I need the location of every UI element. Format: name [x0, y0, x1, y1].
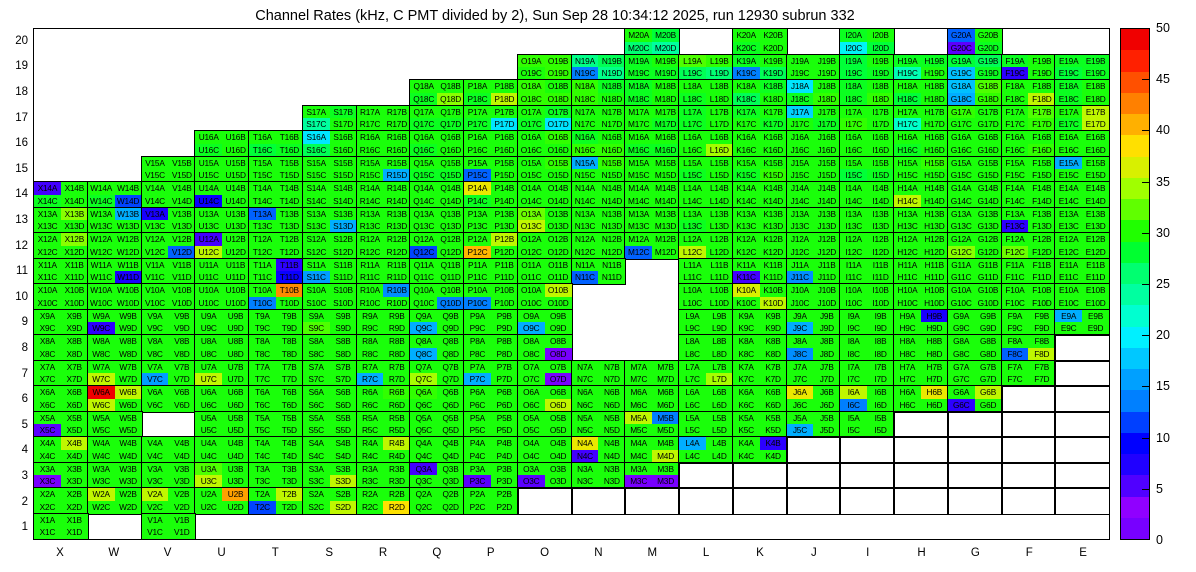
channel-Q2C: Q2C: [410, 501, 437, 514]
channel-J12A: J12A: [787, 233, 814, 246]
channel-K11C: K11C: [733, 271, 760, 284]
channel-U10C: U10C: [195, 297, 222, 310]
module-empty-I4: [840, 437, 894, 463]
channel-X4B: X4B: [61, 437, 88, 450]
channel-K19A: K19A: [733, 55, 760, 68]
colorbar-label-5: 5: [1156, 482, 1163, 496]
module-V14: V14AV14BV14CV14D: [142, 182, 196, 208]
channel-U2C: U2C: [195, 501, 222, 514]
module-T2: T2AT2BT2CT2D: [249, 488, 303, 514]
channel-F13C: F13C: [1002, 220, 1029, 233]
channel-O8B: O8B: [545, 335, 572, 348]
y-tick-12: 12: [2, 240, 28, 252]
channel-H8A: H8A: [894, 335, 921, 348]
channel-V1B: V1B: [168, 514, 195, 527]
channel-J12C: J12C: [787, 246, 814, 259]
channel-K16C: K16C: [733, 144, 760, 157]
channel-O5C: O5C: [518, 424, 545, 437]
channel-L13C: L13C: [679, 220, 706, 233]
channel-T7C: T7C: [249, 373, 276, 386]
channel-M7D: M7D: [652, 373, 679, 386]
channel-T14B: T14B: [276, 182, 303, 195]
module-N16: N16AN16BN16CN16D: [572, 131, 626, 157]
channel-O11B: O11B: [545, 259, 572, 272]
channel-W2B: W2B: [115, 488, 142, 501]
channel-P12C: P12C: [464, 246, 491, 259]
channel-T12C: T12C: [249, 246, 276, 259]
channel-U3A: U3A: [195, 463, 222, 476]
channel-O15C: O15C: [518, 169, 545, 182]
channel-G14D: G14D: [975, 195, 1002, 208]
channel-M17C: M17C: [625, 118, 652, 131]
module-Q4: Q4AQ4BQ4CQ4D: [410, 437, 464, 463]
channel-K18D: K18D: [760, 93, 787, 106]
channel-P8A: P8A: [464, 335, 491, 348]
channel-T10D: T10D: [276, 297, 303, 310]
channel-T12B: T12B: [276, 233, 303, 246]
channel-P12B: P12B: [491, 233, 518, 246]
channel-R12C: R12C: [357, 246, 384, 259]
module-I9: I9AI9BI9CI9D: [840, 310, 894, 336]
channel-W8B: W8B: [115, 335, 142, 348]
channel-L7C: L7C: [679, 373, 706, 386]
channel-V6B: V6B: [168, 386, 195, 399]
channel-F19C: F19C: [1002, 67, 1029, 80]
module-S10: S10AS10BS10CS10D: [303, 284, 357, 310]
channel-J14B: J14B: [813, 182, 840, 195]
colorbar-tick-20: [1142, 335, 1150, 336]
channel-O11D: O11D: [545, 271, 572, 284]
channel-N5D: N5D: [598, 424, 625, 437]
channel-O13C: O13C: [518, 220, 545, 233]
channel-E12A: E12A: [1055, 233, 1082, 246]
channel-J9A: J9A: [787, 310, 814, 323]
module-R12: R12AR12BR12CR12D: [357, 233, 411, 259]
module-E15: E15AE15BE15CE15D: [1055, 157, 1109, 183]
channel-T13D: T13D: [276, 220, 303, 233]
channel-L10C: L10C: [679, 297, 706, 310]
channel-U12D: U12D: [222, 246, 249, 259]
channel-Q6B: Q6B: [437, 386, 464, 399]
channel-X8D: X8D: [61, 348, 88, 361]
channel-T15A: T15A: [249, 157, 276, 170]
module-K19: K19AK19BK19CK19D: [733, 55, 787, 81]
channel-L9B: L9B: [706, 310, 733, 323]
channel-H11D: H11D: [921, 271, 948, 284]
channel-P3A: P3A: [464, 463, 491, 476]
module-K15: K15AK15BK15CK15D: [733, 157, 787, 183]
module-L10: L10AL10BL10CL10D: [679, 284, 733, 310]
channel-S10C: S10C: [303, 297, 330, 310]
channel-M19A: M19A: [625, 55, 652, 68]
channel-Q6C: Q6C: [410, 399, 437, 412]
channel-H8B: H8B: [921, 335, 948, 348]
module-W4: W4AW4BW4CW4D: [88, 437, 142, 463]
channel-P10D: P10D: [491, 297, 518, 310]
channel-N16D: N16D: [598, 144, 625, 157]
page-title: Channel Rates (kHz, C PMT divided by 2),…: [0, 8, 1110, 24]
channel-H18B: H18B: [921, 80, 948, 93]
channel-P15D: P15D: [491, 169, 518, 182]
module-empty-G1: [948, 514, 1002, 540]
channel-F11C: F11C: [1002, 271, 1029, 284]
channel-V2D: V2D: [168, 501, 195, 514]
channel-Q4A: Q4A: [410, 437, 437, 450]
channel-J12B: J12B: [813, 233, 840, 246]
channel-J10A: J10A: [787, 284, 814, 297]
channel-T4D: T4D: [276, 450, 303, 463]
channel-V4C: V4C: [142, 450, 169, 463]
channel-O9B: O9B: [545, 310, 572, 323]
module-L8: L8AL8BL8CL8D: [679, 335, 733, 361]
channel-K20B: K20B: [760, 29, 787, 42]
channel-X1A: X1A: [34, 514, 61, 527]
module-P12: P12AP12BP12CP12D: [464, 233, 518, 259]
colorbar-band: [1121, 220, 1149, 241]
channel-N16B: N16B: [598, 131, 625, 144]
module-F7: F7AF7BF7CF7D: [1002, 361, 1056, 387]
module-K9: K9AK9BK9CK9D: [733, 310, 787, 336]
module-R8: R8AR8BR8CR8D: [357, 335, 411, 361]
channel-Q12C: Q12C: [410, 246, 437, 259]
channel-K18A: K18A: [733, 80, 760, 93]
channel-I10A: I10A: [840, 284, 867, 297]
channel-T2D: T2D: [276, 501, 303, 514]
channel-I16B: I16B: [867, 131, 894, 144]
channel-K13D: K13D: [760, 220, 787, 233]
channel-P3B: P3B: [491, 463, 518, 476]
channel-J13A: J13A: [787, 208, 814, 221]
channel-U10D: U10D: [222, 297, 249, 310]
channel-I7B: I7B: [867, 361, 894, 374]
module-empty-N8: [572, 335, 626, 361]
channel-U2A: U2A: [195, 488, 222, 501]
channel-T11C: T11C: [249, 271, 276, 284]
channel-R5B: R5B: [383, 412, 410, 425]
channel-I5D: I5D: [867, 424, 894, 437]
channel-R6B: R6B: [383, 386, 410, 399]
module-P15: P15AP15BP15CP15D: [464, 157, 518, 183]
channel-O9D: O9D: [545, 322, 572, 335]
module-empty-X17: [34, 106, 88, 132]
channel-G12C: G12C: [948, 246, 975, 259]
channel-M6C: M6C: [625, 399, 652, 412]
channel-E14D: E14D: [1082, 195, 1109, 208]
module-empty-M10: [625, 284, 679, 310]
module-empty-O20: [518, 29, 572, 55]
channel-H14C: H14C: [894, 195, 921, 208]
module-I20: I20AI20BI20CI20D: [840, 29, 894, 55]
channel-L7A: L7A: [679, 361, 706, 374]
channel-X2A: X2A: [34, 488, 61, 501]
module-S7: S7AS7BS7CS7D: [303, 361, 357, 387]
module-E9: E9AE9BE9CE9D: [1055, 310, 1109, 336]
channel-T13B: T13B: [276, 208, 303, 221]
module-O5: O5AO5BO5CO5D: [518, 412, 572, 438]
module-empty-F5: [1002, 412, 1056, 438]
module-O7: O7AO7BO7CO7D: [518, 361, 572, 387]
channel-F18B: F18B: [1028, 80, 1055, 93]
module-Q14: Q14AQ14BQ14CQ14D: [410, 182, 464, 208]
channel-X5B: X5B: [61, 412, 88, 425]
channel-X14B: X14B: [61, 182, 88, 195]
channel-R15D: R15D: [383, 169, 410, 182]
module-empty-G4: [948, 437, 1002, 463]
channel-G6D: G6D: [975, 399, 1002, 412]
channel-L4B: L4B: [706, 437, 733, 450]
module-Q12: Q12AQ12BQ12CQ12D: [410, 233, 464, 259]
module-H17: H17AH17BH17CH17D: [894, 106, 948, 132]
module-P11: P11AP11BP11CP11D: [464, 259, 518, 285]
channel-U14A: U14A: [195, 182, 222, 195]
channel-W11A: W11A: [88, 259, 115, 272]
channel-F12C: F12C: [1002, 246, 1029, 259]
module-S13: S13AS13BS13CS13D: [303, 208, 357, 234]
channel-N17C: N17C: [572, 118, 599, 131]
channel-L6D: L6D: [706, 399, 733, 412]
module-empty-M11: [625, 259, 679, 285]
channel-Q10A: Q10A: [410, 284, 437, 297]
module-V1: V1AV1BV1CV1D: [142, 514, 196, 540]
channel-V3C: V3C: [142, 475, 169, 488]
module-empty-L20: [679, 29, 733, 55]
channel-O15D: O15D: [545, 169, 572, 182]
channel-O10A: O10A: [518, 284, 545, 297]
channel-W10D: W10D: [115, 297, 142, 310]
channel-H12B: H12B: [921, 233, 948, 246]
channel-G15C: G15C: [948, 169, 975, 182]
channel-I9D: I9D: [867, 322, 894, 335]
channel-R2C: R2C: [357, 501, 384, 514]
channel-O14C: O14C: [518, 195, 545, 208]
channel-X9A: X9A: [34, 310, 61, 323]
channel-P11C: P11C: [464, 271, 491, 284]
channel-G8D: G8D: [975, 348, 1002, 361]
channel-E9B: E9B: [1082, 310, 1109, 323]
module-M7: M7AM7BM7CM7D: [625, 361, 679, 387]
channel-E19D: E19D: [1082, 67, 1109, 80]
channel-E17C: E17C: [1055, 118, 1082, 131]
channel-M18D: M18D: [652, 93, 679, 106]
module-Q3: Q3AQ3BQ3CQ3D: [410, 463, 464, 489]
channel-G16B: G16B: [975, 131, 1002, 144]
x-tick-R: R: [356, 540, 410, 566]
channel-O19C: O19C: [518, 67, 545, 80]
channel-P7C: P7C: [464, 373, 491, 386]
channel-S3A: S3A: [303, 463, 330, 476]
module-H16: H16AH16BH16CH16D: [894, 131, 948, 157]
channel-T8A: T8A: [249, 335, 276, 348]
channel-Q6A: Q6A: [410, 386, 437, 399]
module-J18: J18AJ18BJ18CJ18D: [787, 80, 841, 106]
module-P10: P10AP10BP10CP10D: [464, 284, 518, 310]
module-empty-G5: [948, 412, 1002, 438]
module-S2: S2AS2BS2CS2D: [303, 488, 357, 514]
channel-X1D: X1D: [61, 526, 88, 539]
channel-L19B: L19B: [706, 55, 733, 68]
y-tick-2: 2: [2, 496, 28, 508]
y-tick-19: 19: [2, 60, 28, 72]
module-empty-T20: [249, 29, 303, 55]
channel-I13A: I13A: [840, 208, 867, 221]
channel-R13D: R13D: [383, 220, 410, 233]
channel-Q5A: Q5A: [410, 412, 437, 425]
channel-T15C: T15C: [249, 169, 276, 182]
channel-Q8A: Q8A: [410, 335, 437, 348]
module-X7: X7AX7BX7CX7D: [34, 361, 88, 387]
module-M19: M19AM19BM19CM19D: [625, 55, 679, 81]
channel-P5A: P5A: [464, 412, 491, 425]
channel-T13C: T13C: [249, 220, 276, 233]
channel-N14D: N14D: [598, 195, 625, 208]
channel-L18B: L18B: [706, 80, 733, 93]
channel-N17D: N17D: [598, 118, 625, 131]
channel-G17A: G17A: [948, 106, 975, 119]
module-empty-T1: [249, 514, 303, 540]
channel-L8B: L8B: [706, 335, 733, 348]
module-F13: F13AF13BF13CF13D: [1002, 208, 1056, 234]
channel-J11C: J11C: [787, 271, 814, 284]
x-tick-O: O: [518, 540, 572, 566]
module-N14: N14AN14BN14CN14D: [572, 182, 626, 208]
channel-P3C: P3C: [464, 475, 491, 488]
channel-F15B: F15B: [1028, 157, 1055, 170]
module-empty-S1: [303, 514, 357, 540]
module-J16: J16AJ16BJ16CJ16D: [787, 131, 841, 157]
channel-L6A: L6A: [679, 386, 706, 399]
channel-P18A: P18A: [464, 80, 491, 93]
channel-P15C: P15C: [464, 169, 491, 182]
channel-I19C: I19C: [840, 67, 867, 80]
module-O15: O15AO15BO15CO15D: [518, 157, 572, 183]
channel-U15C: U15C: [195, 169, 222, 182]
module-empty-G3: [948, 463, 1002, 489]
module-F19: F19AF19BF19CF19D: [1002, 55, 1056, 81]
channel-M4D: M4D: [652, 450, 679, 463]
channel-W10A: W10A: [88, 284, 115, 297]
channel-T8B: T8B: [276, 335, 303, 348]
channel-H17D: H17D: [921, 118, 948, 131]
x-tick-U: U: [195, 540, 249, 566]
channel-H18D: H18D: [921, 93, 948, 106]
channel-H16B: H16B: [921, 131, 948, 144]
module-empty-S18: [303, 80, 357, 106]
channel-V12B: V12B: [168, 233, 195, 246]
channel-H7B: H7B: [921, 361, 948, 374]
channel-K14C: K14C: [733, 195, 760, 208]
channel-K6B: K6B: [760, 386, 787, 399]
channel-J10C: J10C: [787, 297, 814, 310]
module-V8: V8AV8BV8CV8D: [142, 335, 196, 361]
module-J17: J17AJ17BJ17CJ17D: [787, 106, 841, 132]
y-tick-7: 7: [2, 368, 28, 380]
channel-P11B: P11B: [491, 259, 518, 272]
channel-V3D: V3D: [168, 475, 195, 488]
channel-I20B: I20B: [867, 29, 894, 42]
module-empty-P1: [464, 514, 518, 540]
channel-M19B: M19B: [652, 55, 679, 68]
channel-S12B: S12B: [330, 233, 357, 246]
channel-J5D: J5D: [813, 424, 840, 437]
module-I16: I16AI16BI16CI16D: [840, 131, 894, 157]
channel-O10B: O10B: [545, 284, 572, 297]
channel-P13C: P13C: [464, 220, 491, 233]
module-empty-H1: [894, 514, 948, 540]
channel-O14B: O14B: [545, 182, 572, 195]
channel-Q3A: Q3A: [410, 463, 437, 476]
channel-F16A: F16A: [1002, 131, 1029, 144]
channel-H16D: H16D: [921, 144, 948, 157]
module-W8: W8AW8BW8CW8D: [88, 335, 142, 361]
channel-X14A: X14A: [34, 182, 61, 195]
channel-V9D: V9D: [168, 322, 195, 335]
channel-Q7C: Q7C: [410, 373, 437, 386]
channel-J5C: J5C: [787, 424, 814, 437]
channel-P16D: P16D: [491, 144, 518, 157]
module-Q8: Q8AQ8BQ8CQ8D: [410, 335, 464, 361]
channel-R10B: R10B: [383, 284, 410, 297]
channel-T7A: T7A: [249, 361, 276, 374]
channel-P8B: P8B: [491, 335, 518, 348]
module-K16: K16AK16BK16CK16D: [733, 131, 787, 157]
channel-Q15B: Q15B: [437, 157, 464, 170]
channel-M12D: M12D: [652, 246, 679, 259]
channel-W6C: W6C: [88, 399, 115, 412]
channel-Q17D: Q17D: [437, 118, 464, 131]
module-empty-F20: [1002, 29, 1056, 55]
channel-L10D: L10D: [706, 297, 733, 310]
channel-F7B: F7B: [1028, 361, 1055, 374]
channel-L12B: L12B: [706, 233, 733, 246]
module-empty-R20: [357, 29, 411, 55]
channel-P8C: P8C: [464, 348, 491, 361]
channel-R12A: R12A: [357, 233, 384, 246]
channel-R10D: R10D: [383, 297, 410, 310]
channel-J13D: J13D: [813, 220, 840, 233]
channel-N18B: N18B: [598, 80, 625, 93]
channel-K15B: K15B: [760, 157, 787, 170]
module-V3: V3AV3BV3CV3D: [142, 463, 196, 489]
channel-U8A: U8A: [195, 335, 222, 348]
channel-L10B: L10B: [706, 284, 733, 297]
channel-G7D: G7D: [975, 373, 1002, 386]
channel-S5B: S5B: [330, 412, 357, 425]
channel-H6A: H6A: [894, 386, 921, 399]
channel-V8B: V8B: [168, 335, 195, 348]
module-K7: K7AK7BK7CK7D: [733, 361, 787, 387]
channel-N17A: N17A: [572, 106, 599, 119]
channel-M16D: M16D: [652, 144, 679, 157]
channel-N11B: N11B: [598, 259, 625, 272]
channel-I19B: I19B: [867, 55, 894, 68]
channel-I17A: I17A: [840, 106, 867, 119]
channel-X6D: X6D: [61, 399, 88, 412]
channel-Q12D: Q12D: [437, 246, 464, 259]
module-empty-N20: [572, 29, 626, 55]
channel-F9C: F9C: [1002, 322, 1029, 335]
channel-N16A: N16A: [572, 131, 599, 144]
channel-G10A: G10A: [948, 284, 975, 297]
channel-N19C: N19C: [572, 67, 599, 80]
channel-I5B: I5B: [867, 412, 894, 425]
module-empty-X16: [34, 131, 88, 157]
channel-G12D: G12D: [975, 246, 1002, 259]
channel-S14A: S14A: [303, 182, 330, 195]
channel-T3C: T3C: [249, 475, 276, 488]
module-U7: U7AU7BU7CU7D: [195, 361, 249, 387]
module-empty-U18: [195, 80, 249, 106]
channel-K4B: K4B: [760, 437, 787, 450]
